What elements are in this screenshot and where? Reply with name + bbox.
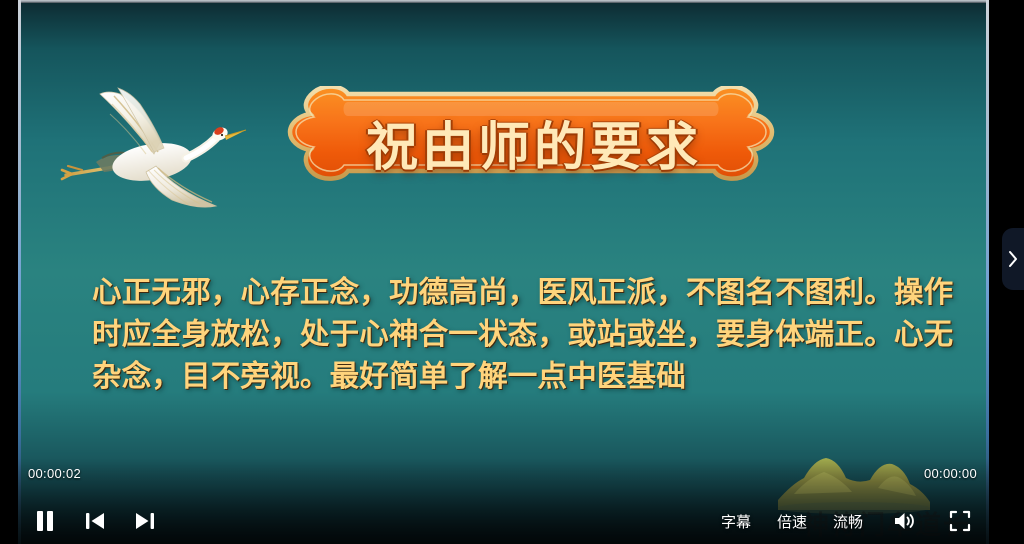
skip-back-icon [84, 511, 106, 531]
mountain-icon [774, 444, 934, 514]
fullscreen-button[interactable] [945, 506, 975, 536]
body-paragraph: 心正无邪，心存正念，功德高尚，医风正派，不图名不图利。操作时应全身放松，处于心神… [92, 271, 972, 397]
playback-speed-button[interactable]: 倍速 [777, 511, 807, 532]
volume-button[interactable] [889, 506, 919, 536]
crane-icon [48, 70, 248, 210]
controls-right-group: 字幕 倍速 流畅 [721, 506, 975, 536]
video-stage[interactable]: 祝由师的要求 心正无邪，心存正念，功德高尚，医风正派，不图名不图利。操作时应全身… [18, 0, 989, 544]
skip-forward-icon [134, 511, 156, 531]
title-banner: 祝由师的要求 [250, 86, 812, 198]
side-panel-toggle[interactable] [1002, 228, 1024, 290]
crane-illustration [48, 70, 248, 210]
fullscreen-icon [949, 510, 971, 532]
mountain-decoration [774, 444, 934, 514]
chevron-right-icon [1007, 250, 1019, 268]
page-title: 祝由师的要求 [250, 86, 812, 198]
pause-button[interactable] [30, 506, 60, 536]
previous-button[interactable] [80, 506, 110, 536]
controls-left-group [30, 506, 160, 536]
pause-icon [35, 510, 55, 532]
stage-top-edge [18, 0, 989, 3]
subtitle-button[interactable]: 字幕 [721, 511, 751, 532]
current-time-label: 00:00:02 [28, 466, 81, 481]
stage-right-edge [986, 0, 989, 544]
stage-left-edge [18, 0, 21, 544]
next-button[interactable] [130, 506, 160, 536]
volume-icon [892, 510, 916, 532]
quality-button[interactable]: 流畅 [833, 511, 863, 532]
video-player: 祝由师的要求 心正无邪，心存正念，功德高尚，医风正派，不图名不图利。操作时应全身… [0, 0, 1024, 544]
